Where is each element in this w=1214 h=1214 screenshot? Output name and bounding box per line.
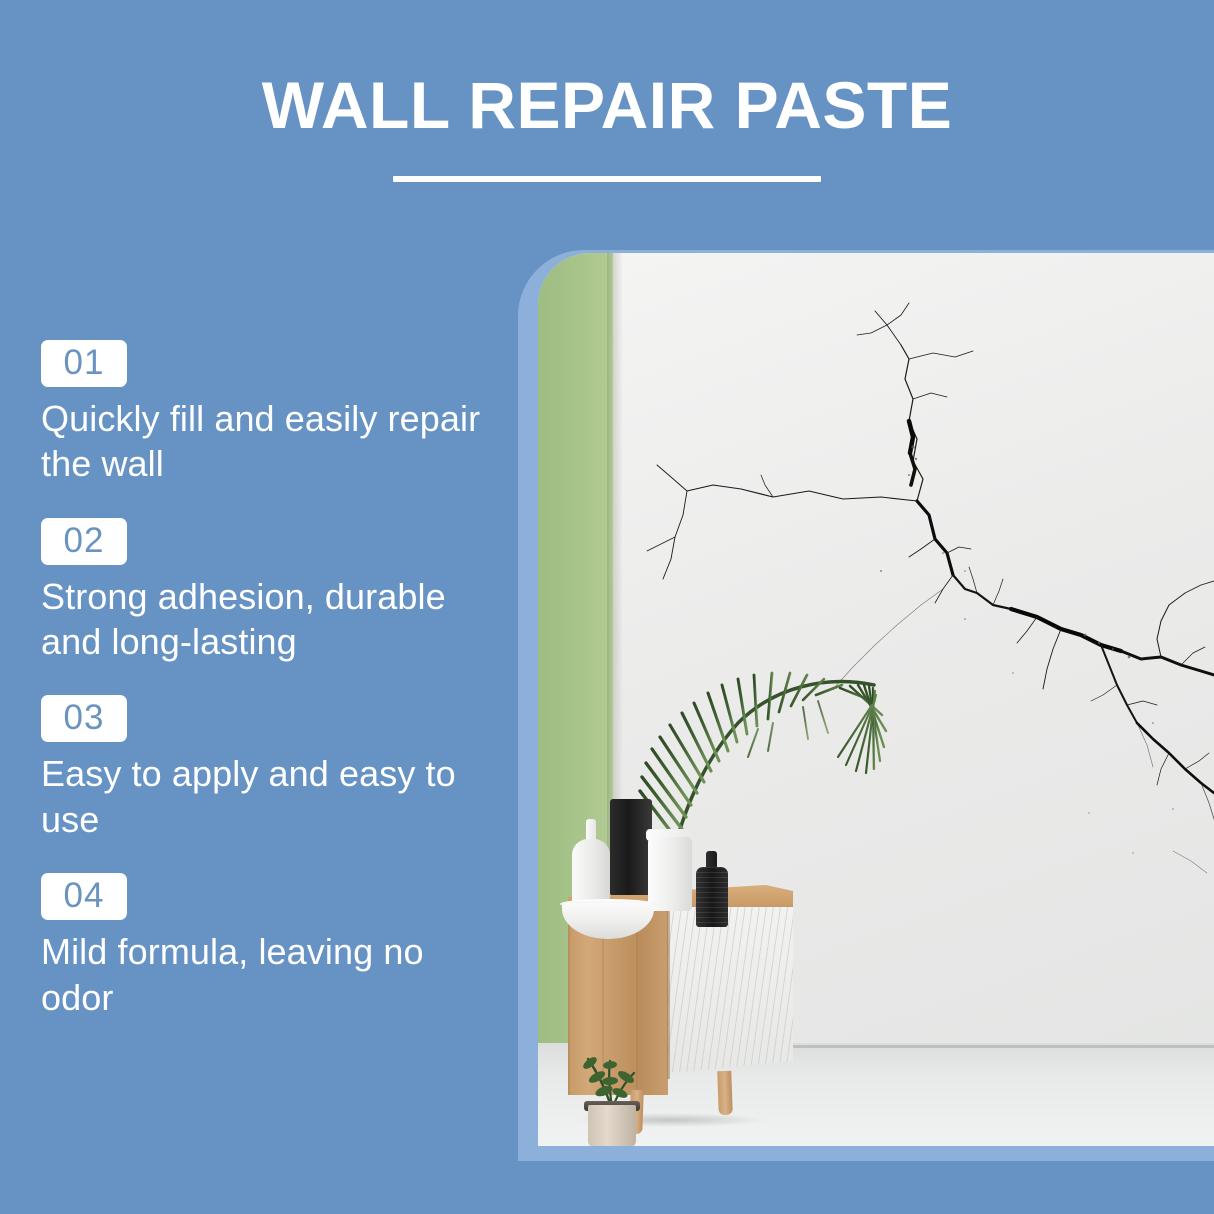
- feature-description: Easy to apply and easy to use: [41, 751, 496, 842]
- feature-item-03: 03 Easy to apply and easy to use: [41, 695, 501, 842]
- small-potted-plant: [570, 1043, 648, 1146]
- product-photo-panel: [518, 250, 1214, 1161]
- white-wide-vase: [648, 837, 692, 911]
- feature-description: Strong adhesion, durable and long-lastin…: [41, 574, 496, 665]
- feature-description: Quickly fill and easily repair the wall: [41, 396, 496, 487]
- feature-number-badge: 02: [41, 518, 127, 565]
- photo-image: [538, 253, 1214, 1146]
- header: WALL REPAIR PASTE: [0, 0, 1214, 210]
- page-title: WALL REPAIR PASTE: [0, 72, 1214, 138]
- feature-item-02: 02 Strong adhesion, durable and long-las…: [41, 518, 501, 665]
- title-divider: [393, 176, 821, 182]
- feature-item-01: 01 Quickly fill and easily repair the wa…: [41, 340, 501, 487]
- product-feature-card: WALL REPAIR PASTE 01 Quickly fill and ea…: [0, 0, 1214, 1214]
- sideboard-white-panel: [668, 893, 793, 1073]
- plant-pot: [588, 1105, 636, 1146]
- sideboard-corner-edge: [667, 901, 670, 1079]
- feature-description: Mild formula, leaving no odor: [41, 929, 496, 1020]
- feature-number-badge: 04: [41, 873, 127, 920]
- feature-item-04: 04 Mild formula, leaving no odor: [41, 873, 501, 1020]
- feature-list: 01 Quickly fill and easily repair the wa…: [41, 340, 501, 1020]
- black-tall-vase: [610, 799, 652, 895]
- black-textured-vase: [696, 867, 728, 927]
- sideboard-leg-right: [717, 1071, 733, 1115]
- feature-number-badge: 01: [41, 340, 127, 387]
- feature-number-badge: 03: [41, 695, 127, 742]
